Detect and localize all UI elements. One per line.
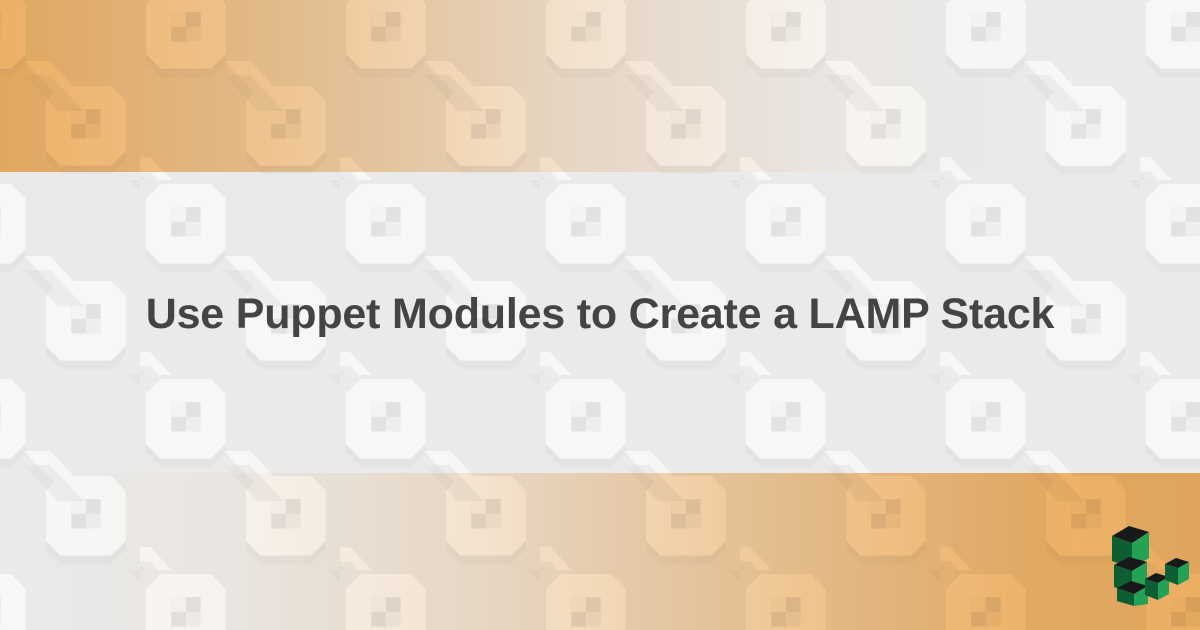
title-container: Use Puppet Modules to Create a LAMP Stac… bbox=[0, 0, 1200, 630]
puppet-logo-icon bbox=[1108, 518, 1192, 606]
page-title: Use Puppet Modules to Create a LAMP Stac… bbox=[26, 290, 1175, 339]
social-share-card: Use Puppet Modules to Create a LAMP Stac… bbox=[0, 0, 1200, 630]
puppet-logo bbox=[1108, 518, 1192, 606]
cube-right-small bbox=[1165, 558, 1189, 585]
